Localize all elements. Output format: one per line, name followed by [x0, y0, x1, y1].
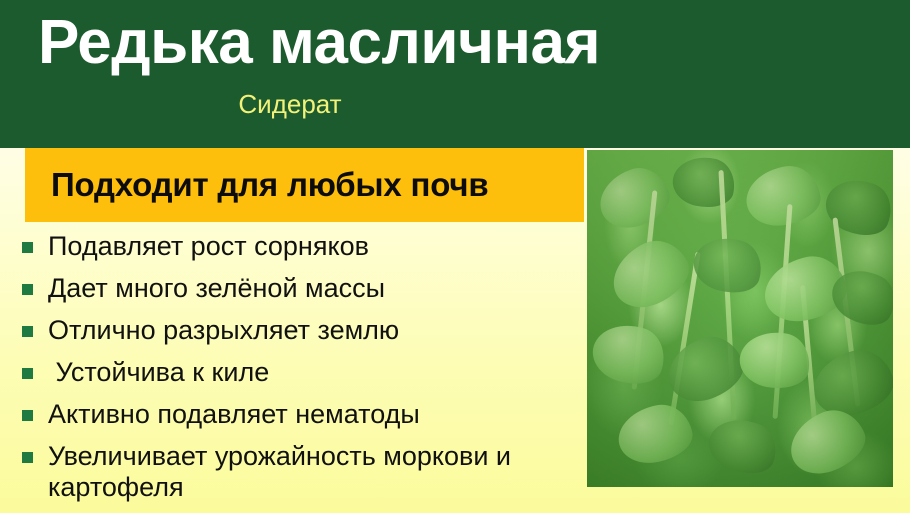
- slide-canvas: Редька масличная Сидерат Подходит для лю…: [0, 0, 910, 513]
- photo-vignette: [587, 150, 893, 487]
- list-item: Отлично разрыхляет землю: [22, 315, 582, 346]
- header-band: Редька масличная Сидерат: [0, 0, 910, 148]
- square-bullet-icon: [22, 410, 33, 421]
- list-item-label: Активно подавляет нематоды: [48, 399, 420, 430]
- callout-heading: Подходит для любых почв: [25, 166, 488, 204]
- list-item-label: Отлично разрыхляет землю: [48, 315, 399, 346]
- square-bullet-icon: [22, 242, 33, 253]
- list-item: Активно подавляет нематоды: [22, 399, 582, 430]
- page-subtitle: Сидерат: [0, 90, 580, 119]
- list-item-label: Дает много зелёной массы: [48, 273, 385, 304]
- page-title: Редька масличная: [38, 8, 600, 77]
- list-item-label: Подавляет рост сорняков: [48, 231, 369, 262]
- list-item: Увеличивает урожайность моркови и картоф…: [22, 441, 582, 503]
- square-bullet-icon: [22, 452, 33, 463]
- list-item: Подавляет рост сорняков: [22, 231, 582, 262]
- square-bullet-icon: [22, 326, 33, 337]
- square-bullet-icon: [22, 284, 33, 295]
- list-item: Устойчива к киле: [22, 357, 582, 388]
- callout-band: Подходит для любых почв: [25, 148, 584, 222]
- list-item-label: Увеличивает урожайность моркови и картоф…: [48, 441, 568, 503]
- benefits-list: Подавляет рост сорняков Дает много зелён…: [22, 231, 582, 513]
- list-item: Дает много зелёной массы: [22, 273, 582, 304]
- plant-photo: [587, 150, 893, 487]
- list-item-label: Устойчива к киле: [48, 357, 269, 388]
- square-bullet-icon: [22, 368, 33, 379]
